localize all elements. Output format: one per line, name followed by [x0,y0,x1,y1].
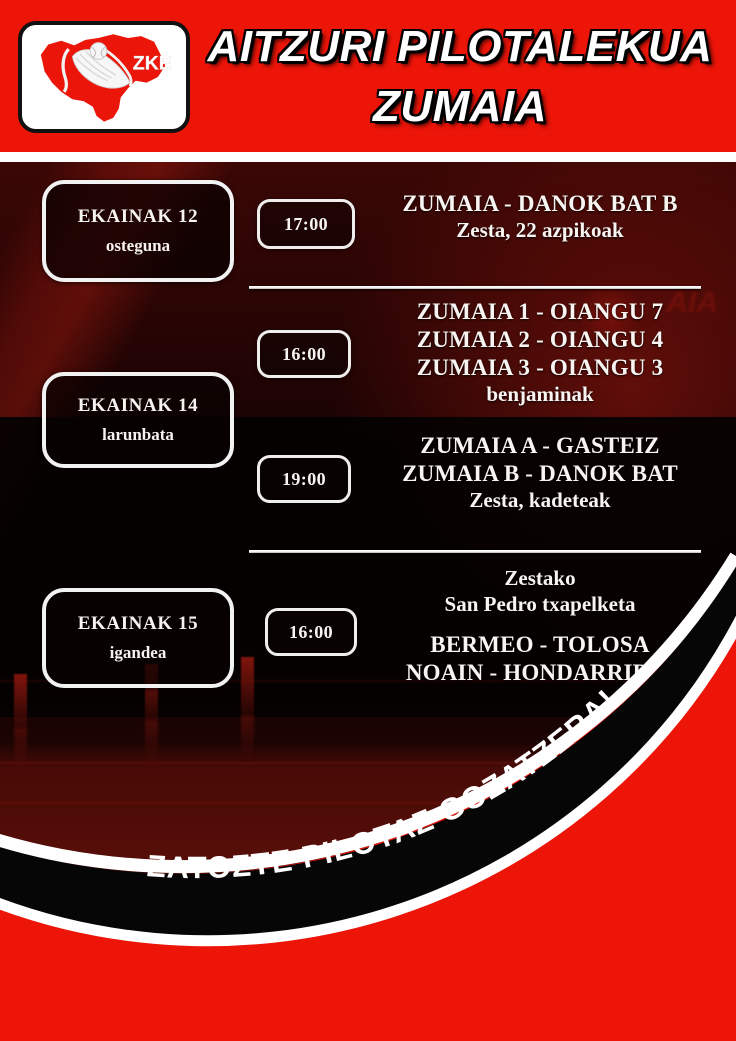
match-block-ekainak-12: ZUMAIA - DANOK BAT B Zesta, 22 azpikoak [360,190,720,244]
date-box-ekainak-14: EKAINAK 14 larunbata [42,372,234,468]
date-main: EKAINAK 14 [78,396,199,417]
time-box-16-00-sat: 16:00 [257,330,351,378]
date-sub: osteguna [106,237,170,256]
match-line: ZUMAIA 3 - OIANGU 3 [360,354,720,382]
match-line: ZUMAIA B - DANOK BAT [360,460,720,488]
date-main: EKAINAK 15 [78,614,199,635]
time-label: 16:00 [282,344,326,365]
match-line: ZUMAIA 1 - OIANGU 7 [360,298,720,326]
section-divider-1 [249,286,701,289]
match-block-san-pedro: Zestako San Pedro txapelketa BERMEO - TO… [360,566,720,687]
match-line: ZUMAIA - DANOK BAT B [360,190,720,218]
date-sub: larunbata [102,426,174,445]
match-category: benjaminak [360,382,720,408]
time-box-17-00: 17:00 [257,199,355,249]
match-line: ZUMAIA 2 - OIANGU 4 [360,326,720,354]
tournament-line: San Pedro txapelketa [360,592,720,618]
time-label: 16:00 [289,622,333,643]
date-box-ekainak-12: EKAINAK 12 osteguna [42,180,234,282]
schedule: EKAINAK 12 osteguna 17:00 ZUMAIA - DANOK… [0,0,736,1041]
match-category: Zesta, 22 azpikoak [360,218,720,244]
date-main: EKAINAK 12 [78,207,199,228]
date-box-ekainak-15: EKAINAK 15 igandea [42,588,234,688]
time-label: 17:00 [284,214,328,235]
time-label: 19:00 [282,469,326,490]
match-block-benjaminak: ZUMAIA 1 - OIANGU 7 ZUMAIA 2 - OIANGU 4 … [360,298,720,408]
match-line: BERMEO - TOLOSA [360,631,720,659]
tournament-line: Zestako [360,566,720,592]
time-box-19-00: 19:00 [257,455,351,503]
section-divider-2 [249,550,701,553]
match-category: Zesta, kadeteak [360,488,720,514]
match-line: NOAIN - HONDARRIBIA [360,659,720,687]
poster-root: ZKE AITZURI PILOTALEKUA ZUMAIA AIA EKAIN… [0,0,736,1041]
date-sub: igandea [110,644,167,663]
match-block-kadeteak: ZUMAIA A - GASTEIZ ZUMAIA B - DANOK BAT … [360,432,720,514]
match-line: ZUMAIA A - GASTEIZ [360,432,720,460]
time-box-16-00-sun: 16:00 [265,608,357,656]
